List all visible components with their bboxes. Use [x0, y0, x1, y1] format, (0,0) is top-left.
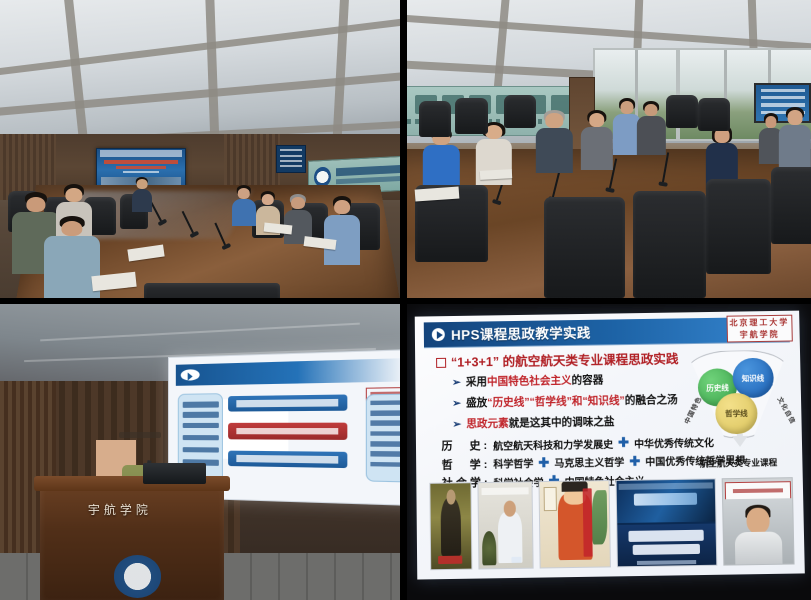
poster-line-1 [629, 531, 704, 543]
funnel-label-left: 中国特色 [681, 394, 703, 425]
lectern: 宇航学院 [40, 482, 224, 600]
shirt [734, 532, 782, 565]
down-arrow-icon [731, 437, 747, 448]
wall-notice-board [276, 145, 306, 174]
photo-top-left [0, 0, 400, 298]
arrow-bullet-icon: ➢ [452, 377, 461, 389]
wall-sign-en-text [336, 175, 400, 183]
attendee [232, 188, 256, 227]
bullet-item: ➢盛放“历史线”“哲学线”和“知识线”的融合之汤 [452, 393, 678, 411]
badge-line-2: 宇航学院 [739, 329, 779, 341]
thumbnail-video-call-participant [721, 478, 794, 566]
scroll [543, 488, 556, 512]
laptop [143, 463, 206, 484]
screen-date-line [123, 171, 158, 173]
chair [419, 101, 451, 137]
chair [144, 283, 280, 298]
thumbnail-portrait-historical-figure [429, 483, 472, 571]
institution-badge: 北京理工大学 宇航学院 [727, 315, 793, 343]
category-row-history: 历 史: 航空航天科技和力学发展史 ✚ 中华优秀传统文化 [441, 434, 714, 454]
row-label: 历 史: [441, 438, 490, 455]
chair [771, 167, 811, 244]
arrow-bullet-icon: ➢ [452, 398, 461, 410]
bullet-post: 就是这其中的调味之盐 [508, 417, 614, 431]
slide-bar-3 [228, 451, 347, 469]
poster-bottom [617, 524, 716, 567]
screen-subtitle-line [116, 166, 165, 169]
chair [698, 98, 730, 131]
head [746, 508, 769, 534]
badge-line-1: 北京理工大学 [729, 317, 789, 329]
attendee [581, 113, 613, 170]
wall-sign-cn-text [336, 164, 400, 176]
poster-band [618, 483, 712, 490]
chair [455, 98, 487, 134]
panel-slide-closeup-hps: HPS课程思政教学实践 北京理工大学 宇航学院 “1+3+1” 的航空航天类专业… [407, 304, 811, 600]
poster-footnote [637, 561, 696, 566]
chair [544, 197, 625, 298]
row-item: 科学哲学 [493, 456, 533, 472]
poster-line-2 [633, 545, 700, 556]
bullet-post: 的容器 [571, 375, 603, 387]
bullet-highlight: “历史线”“哲学线”和“知识线” [487, 396, 625, 410]
glasses [119, 432, 161, 438]
slide-heading-text: “1+3+1” 的航空航天类专业课程思政实践 [451, 352, 679, 369]
slide-bar-1 [228, 395, 347, 412]
slide-title: HPS课程思政教学实践 [451, 323, 591, 345]
chair [666, 95, 698, 128]
photo-bottom-right: HPS课程思政教学实践 北京理工大学 宇航学院 “1+3+1” 的航空航天类专业… [407, 304, 811, 600]
attendee [324, 200, 360, 266]
caption-bar [511, 557, 522, 563]
photo-collage: 宇航学院 HPS课程思政教学实践 北京理工大学 宇航学院 “1+3+1” 的航空… [0, 0, 811, 600]
caption-bar [482, 487, 528, 495]
thumbnail-poster-tiangong-lecture [615, 479, 717, 568]
presentation-slide: HPS课程思政教学实践 北京理工大学 宇航学院 “1+3+1” 的航空航天类专业… [415, 311, 805, 580]
photo-bottom-left: 宇航学院 [0, 304, 400, 600]
funnel-label-right: 文化自信 [775, 395, 798, 426]
bullet-item: ➢思政元素就是这其中的调味之盐 [452, 415, 614, 433]
vertical-caption [583, 489, 593, 557]
caption-bar [438, 556, 462, 565]
panel-seminar-room-attendees [407, 0, 811, 298]
attendee [536, 113, 572, 173]
poster-top [616, 480, 715, 523]
slide-header-bar [176, 358, 400, 386]
bullet-highlight: 思政元素 [466, 418, 508, 431]
chair [706, 179, 771, 274]
screen-logo-bar [100, 150, 183, 156]
arrow-bullet-icon: ➢ [452, 419, 461, 431]
row-item: 马克思主义哲学 [554, 455, 624, 471]
funnel-circle-philosophy: 哲学线 [715, 394, 757, 435]
funnel-output-label: 航空航天类专业课程 [678, 456, 799, 470]
attendee [637, 104, 665, 155]
plus-icon: ✚ [538, 455, 549, 471]
bullet-highlight: 中国特色社会主义 [487, 375, 572, 388]
bit-emblem-icon [114, 555, 162, 598]
row-item: 航空航天科技和力学发展史 [493, 436, 613, 453]
bullet-pre: 采用 [466, 377, 487, 389]
thumbnail-illustration-ancient-figure [538, 481, 610, 569]
slide-bar-2 [228, 423, 347, 440]
bullet-post: 的融合之汤 [625, 395, 678, 408]
plus-icon: ✚ [618, 436, 629, 452]
play-circle-icon [432, 328, 445, 341]
square-bullet-icon [436, 359, 446, 369]
poster-title [634, 493, 697, 506]
funnel-diagram: 历史线 知识线 哲学线 中国特色 文化自信 航空航天类专业课程 [682, 348, 792, 476]
decoration [592, 490, 608, 545]
attendee [132, 179, 152, 212]
photo-top-right [407, 0, 811, 298]
bullet-item: ➢采用中国特色社会主义的容器 [452, 373, 603, 390]
attendee [779, 110, 811, 170]
slide-right-textbox [366, 394, 400, 483]
chair [504, 95, 536, 128]
panel-speaker-at-podium: 宇航学院 [0, 304, 400, 600]
screen-title-line [104, 160, 178, 163]
thumbnail-portrait-qian-xuesen [477, 482, 533, 570]
thumbnail-strip [429, 478, 794, 571]
plus-icon: ✚ [629, 454, 640, 470]
document [480, 169, 513, 180]
bullet-pre: 盛放 [466, 398, 487, 410]
play-circle-icon [181, 369, 200, 380]
lectern-label: 宇航学院 [88, 501, 191, 525]
panel-conference-room-wide [0, 0, 400, 298]
figure [440, 498, 461, 556]
plant [482, 531, 496, 565]
row-label: 哲 学: [441, 456, 490, 473]
attendee [423, 131, 459, 191]
slide-heading: “1+3+1” 的航空航天类专业课程思政实践 [436, 349, 679, 372]
chair [633, 191, 706, 298]
